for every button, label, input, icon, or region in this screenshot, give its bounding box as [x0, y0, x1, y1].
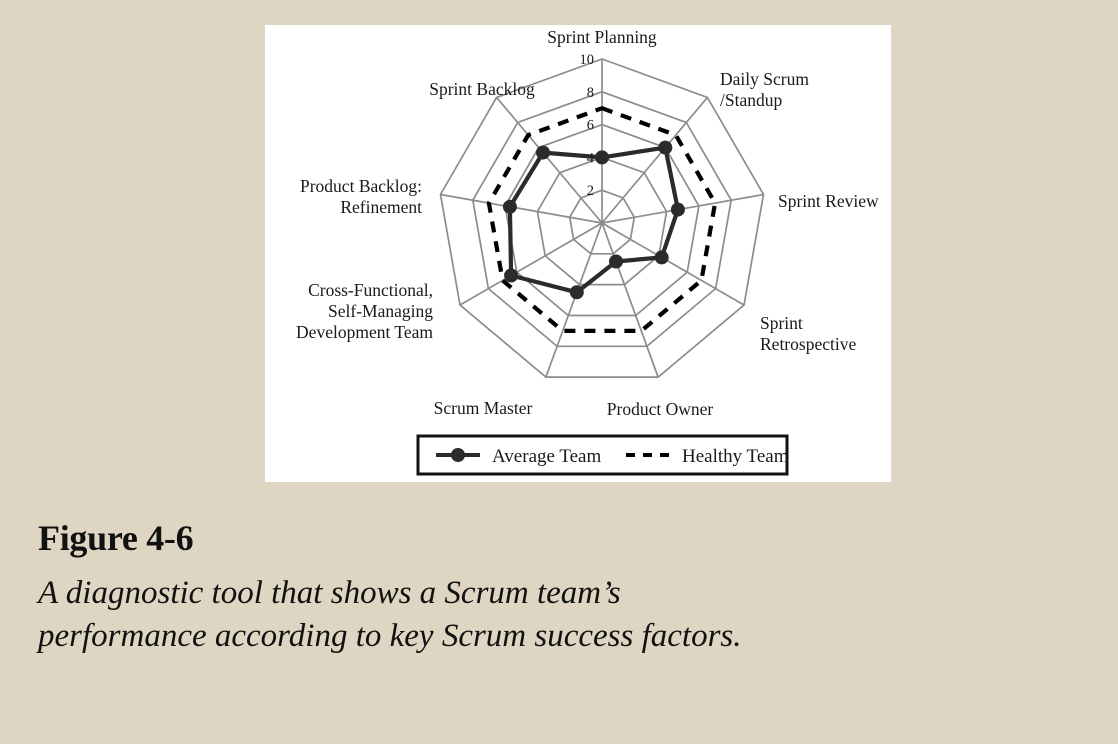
average-team-point	[504, 269, 518, 283]
radial-tick-labels: 246810	[580, 52, 595, 199]
figure-container: 246810 Sprint PlanningDaily Scrum/Standu…	[0, 0, 1118, 744]
average-team-point	[655, 250, 669, 264]
radial-tick-2: 2	[587, 183, 594, 199]
axis-label-daily-scrum: Daily Scrum/Standup	[720, 69, 809, 110]
radial-tick-4: 4	[587, 150, 595, 166]
average-team-point	[658, 141, 672, 155]
grid-spoke-3	[602, 223, 744, 305]
average-team-point	[595, 150, 609, 164]
axis-label-sprint-backlog: Sprint Backlog	[429, 79, 535, 99]
radar-chart-svg: 246810 Sprint PlanningDaily Scrum/Standu…	[265, 25, 891, 482]
radial-tick-8: 8	[587, 85, 594, 101]
radial-tick-10: 10	[580, 52, 595, 68]
axis-label-dev-team: Cross-Functional,Self-ManagingDevelopmen…	[296, 280, 433, 342]
axis-label-sprint-review: Sprint Review	[778, 191, 879, 211]
axis-label-sprint-planning: Sprint Planning	[547, 27, 657, 47]
figure-number: Figure 4-6	[38, 520, 1088, 558]
average-team-polygon	[510, 148, 678, 293]
figure-caption-line-1: A diagnostic tool that shows a Scrum tea…	[38, 572, 1088, 616]
axis-label-scrum-master: Scrum Master	[434, 398, 533, 418]
grid-spoke-7	[441, 195, 603, 224]
legend-label-average-team: Average Team	[492, 446, 601, 467]
average-team-point	[503, 200, 517, 214]
average-team-point	[536, 146, 550, 160]
chart-legend: Average TeamHealthy Team	[418, 436, 789, 474]
grid-spoke-5	[546, 223, 602, 377]
legend-label-healthy-team: Healthy Team	[682, 446, 789, 467]
radial-tick-6: 6	[587, 118, 594, 134]
radar-chart-panel: 246810 Sprint PlanningDaily Scrum/Standu…	[265, 25, 891, 482]
axis-label-product-backlog: Product Backlog:Refinement	[300, 176, 422, 217]
average-team-point	[671, 203, 685, 217]
axis-label-sprint-retro: SprintRetrospective	[760, 313, 856, 354]
figure-caption-block: Figure 4-6 A diagnostic tool that shows …	[38, 520, 1088, 659]
average-team-point	[570, 285, 584, 299]
legend-marker-average-team	[451, 448, 465, 462]
grid-spoke-4	[602, 223, 658, 377]
axis-label-product-owner: Product Owner	[607, 399, 714, 419]
figure-caption-line-2: performance according to key Scrum succe…	[38, 615, 1088, 659]
average-team-point	[609, 255, 623, 269]
